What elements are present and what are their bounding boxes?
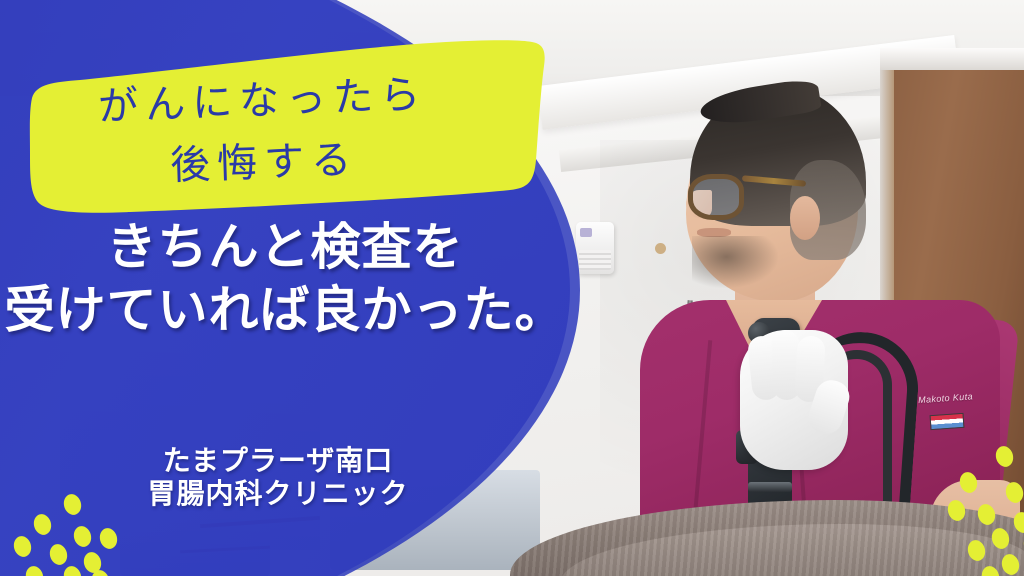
- wall-dispenser: [576, 222, 614, 274]
- doctor-beard: [692, 236, 778, 288]
- wall-hook: [655, 243, 666, 254]
- handwritten-line-2: 後悔する: [169, 127, 359, 191]
- decorative-dot: [23, 564, 45, 576]
- decorative-dot: [957, 470, 979, 495]
- clinic-name-line-1: たまプラーザ南口: [0, 444, 556, 477]
- glasses-icon: [688, 174, 744, 220]
- decorative-dot: [1003, 480, 1024, 505]
- headline: きちんと検査を 受けていれば良かった。: [0, 222, 570, 336]
- decorative-dot: [61, 564, 83, 576]
- decorative-dot: [945, 498, 967, 523]
- decorative-dot: [993, 444, 1015, 469]
- headline-line-2: 受けていれば良かった。: [0, 285, 570, 336]
- uniform-flag-patch: [930, 413, 965, 430]
- decorative-dot: [989, 526, 1011, 551]
- decorative-dot: [975, 502, 997, 527]
- decorative-dot: [979, 564, 1001, 576]
- decorative-dot: [31, 512, 53, 537]
- decorative-dot: [97, 526, 119, 551]
- decorative-dot: [1011, 510, 1024, 535]
- headline-line-1: きちんと検査を: [0, 222, 570, 273]
- decorative-dot: [61, 492, 83, 517]
- banner-canvas: Makoto Kuta がんになったら 後悔する きちんと検査を 受けていれば良…: [0, 0, 1024, 576]
- decorative-dots-left: [12, 492, 132, 576]
- decorative-dots-right: [948, 430, 1024, 576]
- decorative-dot: [965, 538, 987, 563]
- decorative-dot: [11, 534, 33, 559]
- decorative-dot: [47, 542, 69, 567]
- doctor-ear: [790, 196, 820, 240]
- endoscope-ring: [748, 482, 792, 492]
- decorative-dot: [71, 524, 93, 549]
- decorative-dot: [999, 552, 1021, 576]
